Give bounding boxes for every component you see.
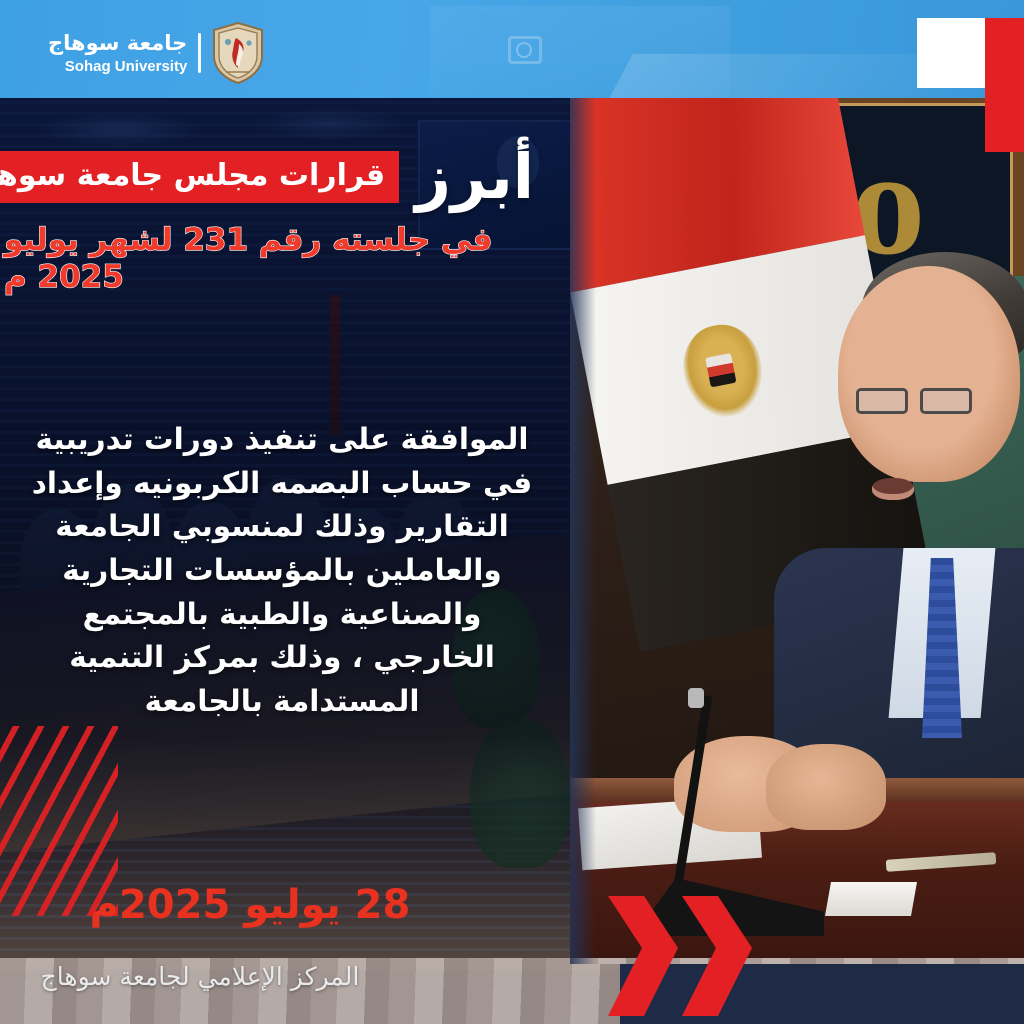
photo-nameplate — [825, 882, 917, 916]
shield-crest-icon — [212, 22, 264, 84]
logo-divider — [198, 33, 201, 73]
title-chip: قرارات مجلس جامعة سوهاج — [0, 151, 399, 203]
double-chevron-quote-icon — [604, 888, 780, 1024]
subtitle-session: في جلسته رقم 231 لشهر يوليو 2025 م — [0, 222, 556, 296]
president-photo: So — [570, 96, 1024, 964]
corner-red-block — [985, 18, 1024, 152]
corner-white-block — [917, 18, 987, 88]
glasses-icon — [856, 388, 982, 414]
publish-date: 28 يوليو 2025م — [0, 885, 500, 925]
top-header-bar: جامعة سوهاج Sohag University — [0, 0, 1024, 98]
title-row: أبرز قرارات مجلس جامعة سوهاج — [0, 146, 560, 208]
photo-person-head — [838, 266, 1020, 482]
logo-english-name: Sohag University — [48, 59, 187, 74]
photo-edge-fade — [570, 96, 596, 964]
microphone-tip — [688, 688, 704, 708]
media-center-credit: المركز الإعلامي لجامعة سوهاج — [0, 962, 400, 991]
decision-body-text: الموافقة على تنفيذ دورات تدريبية في حساب… — [4, 418, 560, 724]
photo-person-mouth — [872, 478, 914, 500]
poster-canvas: So — [0, 0, 1024, 1024]
logo-arabic-name: جامعة سوهاج — [48, 33, 187, 54]
university-logo[interactable]: جامعة سوهاج Sohag University — [48, 22, 264, 84]
title-highlight-word: أبرز — [409, 146, 552, 208]
photo-person-hand — [766, 744, 886, 830]
